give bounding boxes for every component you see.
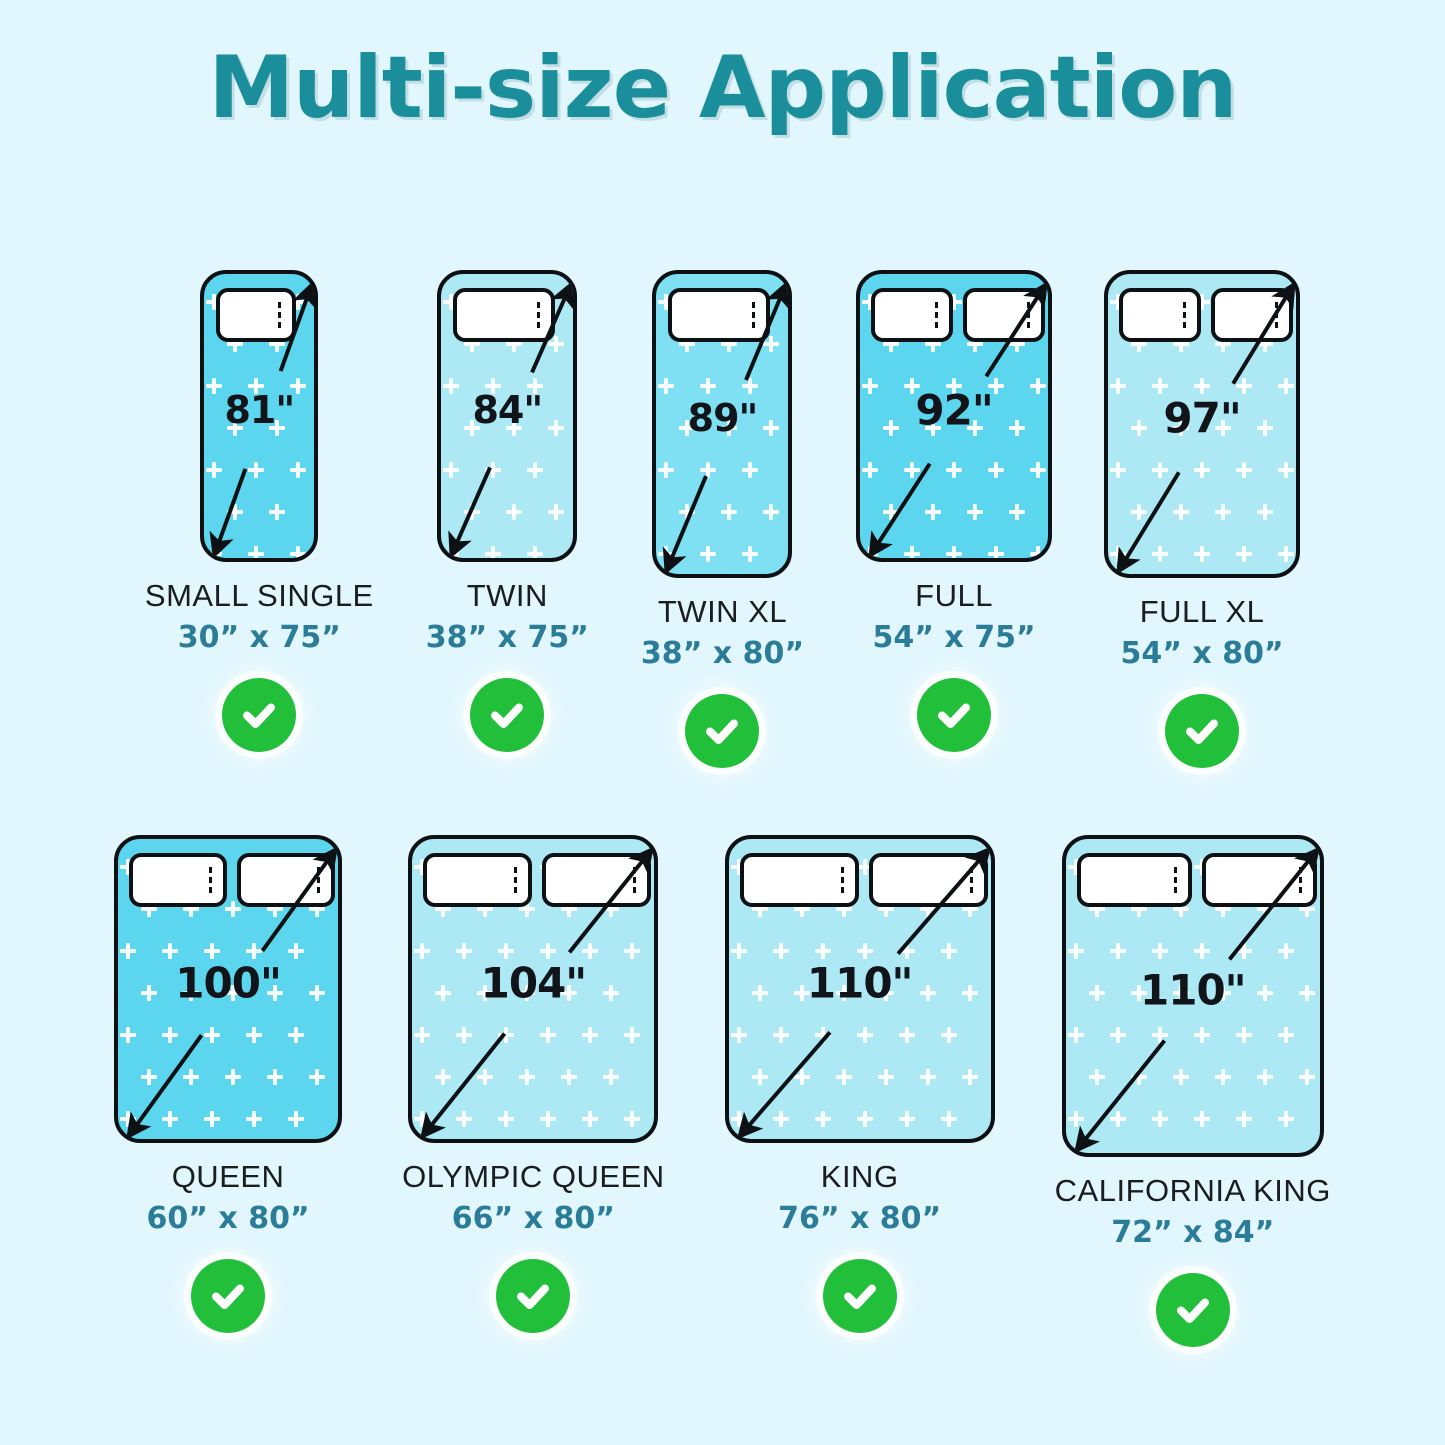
pattern-plus-icon bbox=[464, 336, 480, 352]
size-dimensions-label: 38” x 80” bbox=[641, 635, 804, 673]
pattern-plus-icon bbox=[1215, 1069, 1231, 1085]
mattress-pattern bbox=[860, 274, 1048, 558]
size-card-california-king[interactable]: 110"CALIFORNIA KING72” x 84” bbox=[1055, 835, 1331, 1347]
pattern-plus-icon bbox=[1110, 462, 1126, 478]
mattress: 110" bbox=[1062, 835, 1324, 1157]
pattern-plus-icon bbox=[862, 462, 878, 478]
pattern-plus-icon bbox=[1257, 420, 1273, 436]
pattern-plus-icon bbox=[269, 420, 285, 436]
pattern-plus-icon bbox=[857, 1027, 873, 1043]
pattern-plus-icon bbox=[519, 985, 535, 1001]
pattern-plus-icon bbox=[941, 1027, 957, 1043]
pattern-plus-icon bbox=[269, 504, 285, 520]
diagonal-measurement-label: 97" bbox=[1163, 394, 1240, 443]
diagonal-measurement-label: 84" bbox=[472, 388, 542, 432]
size-caption: QUEEN60” x 80” bbox=[146, 1159, 309, 1237]
pattern-plus-icon bbox=[414, 1111, 430, 1127]
pattern-plus-icon bbox=[267, 1069, 283, 1085]
pattern-plus-icon bbox=[1194, 546, 1210, 562]
pattern-plus-icon bbox=[988, 546, 1004, 562]
pattern-plus-icon bbox=[988, 462, 1004, 478]
size-card-queen[interactable]: 100"QUEEN60” x 80” bbox=[114, 835, 342, 1347]
bed-illustration-olympic-queen: 104" bbox=[408, 835, 658, 1143]
pattern-plus-icon bbox=[290, 294, 306, 310]
diagonal-measure-arrow bbox=[118, 839, 342, 1143]
pattern-plus-icon bbox=[227, 504, 243, 520]
pattern-plus-icon bbox=[1152, 378, 1168, 394]
pattern-plus-icon bbox=[464, 504, 480, 520]
pattern-plus-icon bbox=[162, 859, 178, 875]
size-name-label: QUEEN bbox=[146, 1159, 309, 1196]
check-circle-icon bbox=[470, 678, 544, 752]
check-circle-icon bbox=[191, 1259, 265, 1333]
pattern-plus-icon bbox=[288, 1027, 304, 1043]
pattern-plus-icon bbox=[815, 859, 831, 875]
pattern-plus-icon bbox=[1236, 1027, 1252, 1043]
pattern-plus-icon bbox=[1173, 336, 1189, 352]
pattern-plus-icon bbox=[1152, 859, 1168, 875]
pattern-plus-icon bbox=[1030, 546, 1046, 562]
pillow-crease bbox=[275, 302, 281, 328]
pattern-plus-icon bbox=[248, 378, 264, 394]
pattern-plus-icon bbox=[1194, 462, 1210, 478]
pattern-plus-icon bbox=[967, 336, 983, 352]
size-dimensions-label: 54” x 80” bbox=[1120, 635, 1283, 673]
pattern-plus-icon bbox=[946, 462, 962, 478]
pattern-plus-icon bbox=[1030, 378, 1046, 394]
diagonal-measurement-label: 104" bbox=[481, 959, 587, 1008]
pattern-plus-icon bbox=[773, 1027, 789, 1043]
mattress: 92" bbox=[856, 270, 1052, 562]
pattern-plus-icon bbox=[899, 1027, 915, 1043]
pattern-plus-icon bbox=[506, 504, 522, 520]
pattern-plus-icon bbox=[1278, 462, 1294, 478]
pattern-plus-icon bbox=[485, 294, 501, 310]
pattern-plus-icon bbox=[485, 378, 501, 394]
pattern-plus-icon bbox=[904, 378, 920, 394]
pattern-plus-icon bbox=[904, 546, 920, 562]
pattern-plus-icon bbox=[288, 943, 304, 959]
check-circle-icon bbox=[496, 1259, 570, 1333]
pattern-plus-icon bbox=[527, 294, 543, 310]
pillow bbox=[869, 853, 988, 907]
size-card-king[interactable]: 110"KING76” x 80” bbox=[725, 835, 995, 1347]
mattress-pattern bbox=[118, 839, 338, 1139]
pattern-plus-icon bbox=[1278, 1111, 1294, 1127]
pillow-crease bbox=[1171, 867, 1177, 893]
pattern-plus-icon bbox=[443, 462, 459, 478]
pattern-plus-icon bbox=[1173, 420, 1189, 436]
pattern-plus-icon bbox=[225, 901, 241, 917]
mattress: 81" bbox=[200, 270, 318, 562]
pattern-plus-icon bbox=[506, 420, 522, 436]
size-name-label: TWIN XL bbox=[641, 594, 804, 631]
pattern-plus-icon bbox=[1236, 462, 1252, 478]
pattern-plus-icon bbox=[141, 985, 157, 1001]
pattern-plus-icon bbox=[204, 1027, 220, 1043]
pattern-plus-icon bbox=[1152, 1027, 1168, 1043]
pattern-plus-icon bbox=[925, 336, 941, 352]
pattern-plus-icon bbox=[773, 859, 789, 875]
pattern-plus-icon bbox=[731, 859, 747, 875]
pattern-plus-icon bbox=[246, 1111, 262, 1127]
pattern-plus-icon bbox=[1089, 1069, 1105, 1085]
pattern-plus-icon bbox=[1257, 985, 1273, 1001]
size-caption: FULL54” x 75” bbox=[872, 578, 1035, 656]
pattern-plus-icon bbox=[183, 901, 199, 917]
pattern-plus-icon bbox=[962, 901, 978, 917]
pattern-plus-icon bbox=[1278, 1027, 1294, 1043]
pattern-plus-icon bbox=[498, 1027, 514, 1043]
bed-illustration-king: 110" bbox=[725, 835, 995, 1143]
pattern-plus-icon bbox=[414, 943, 430, 959]
pattern-plus-icon bbox=[700, 294, 716, 310]
pattern-plus-icon bbox=[1030, 462, 1046, 478]
pattern-plus-icon bbox=[899, 1111, 915, 1127]
pattern-plus-icon bbox=[624, 1027, 640, 1043]
pattern-plus-icon bbox=[225, 1069, 241, 1085]
pattern-plus-icon bbox=[1194, 378, 1210, 394]
pattern-plus-icon bbox=[752, 1069, 768, 1085]
pattern-plus-icon bbox=[742, 294, 758, 310]
pillow-crease bbox=[206, 867, 212, 893]
bed-illustration-small-single: 81" bbox=[200, 270, 318, 562]
pattern-plus-icon bbox=[435, 901, 451, 917]
pattern-plus-icon bbox=[962, 1069, 978, 1085]
pattern-plus-icon bbox=[731, 1111, 747, 1127]
pattern-plus-icon bbox=[878, 985, 894, 1001]
pillow bbox=[1202, 853, 1317, 907]
pattern-plus-icon bbox=[1152, 294, 1168, 310]
pattern-plus-icon bbox=[120, 943, 136, 959]
pattern-plus-icon bbox=[1257, 504, 1273, 520]
pattern-plus-icon bbox=[206, 546, 222, 562]
pattern-plus-icon bbox=[506, 336, 522, 352]
pattern-plus-icon bbox=[162, 1111, 178, 1127]
pattern-plus-icon bbox=[485, 462, 501, 478]
size-dimensions-label: 76” x 80” bbox=[778, 1200, 941, 1238]
pattern-plus-icon bbox=[288, 859, 304, 875]
pattern-plus-icon bbox=[962, 985, 978, 1001]
size-dimensions-label: 66” x 80” bbox=[402, 1200, 665, 1238]
pattern-plus-icon bbox=[1173, 985, 1189, 1001]
pillow-crease bbox=[1272, 302, 1278, 328]
pattern-plus-icon bbox=[1215, 901, 1231, 917]
pattern-plus-icon bbox=[679, 504, 695, 520]
bed-illustration-full: 92" bbox=[856, 270, 1052, 562]
pattern-plus-icon bbox=[204, 859, 220, 875]
pillow bbox=[871, 288, 953, 342]
pattern-plus-icon bbox=[1236, 1111, 1252, 1127]
pattern-plus-icon bbox=[1299, 985, 1315, 1001]
mattress: 104" bbox=[408, 835, 658, 1143]
pattern-plus-icon bbox=[443, 546, 459, 562]
pattern-plus-icon bbox=[477, 1069, 493, 1085]
pattern-plus-icon bbox=[967, 504, 983, 520]
pattern-plus-icon bbox=[290, 546, 306, 562]
pattern-plus-icon bbox=[721, 336, 737, 352]
pattern-plus-icon bbox=[857, 859, 873, 875]
size-caption: FULL XL54” x 80” bbox=[1120, 594, 1283, 672]
pattern-plus-icon bbox=[920, 985, 936, 1001]
pattern-plus-icon bbox=[862, 546, 878, 562]
diagonal-measure-arrow bbox=[412, 839, 658, 1143]
pattern-plus-icon bbox=[248, 546, 264, 562]
pattern-plus-icon bbox=[773, 1111, 789, 1127]
pattern-plus-icon bbox=[120, 859, 136, 875]
pattern-plus-icon bbox=[582, 859, 598, 875]
pattern-plus-icon bbox=[920, 901, 936, 917]
pattern-plus-icon bbox=[1152, 462, 1168, 478]
pattern-plus-icon bbox=[836, 985, 852, 1001]
pattern-plus-icon bbox=[836, 901, 852, 917]
pillow-crease bbox=[1296, 867, 1302, 893]
pattern-plus-icon bbox=[435, 1069, 451, 1085]
pattern-plus-icon bbox=[1110, 859, 1126, 875]
pattern-plus-icon bbox=[925, 420, 941, 436]
pattern-plus-icon bbox=[857, 1111, 873, 1127]
pattern-plus-icon bbox=[309, 1069, 325, 1085]
pattern-plus-icon bbox=[246, 943, 262, 959]
pattern-plus-icon bbox=[540, 1111, 556, 1127]
pattern-plus-icon bbox=[883, 336, 899, 352]
pattern-plus-icon bbox=[527, 462, 543, 478]
pattern-plus-icon bbox=[988, 294, 1004, 310]
pattern-plus-icon bbox=[1257, 336, 1273, 352]
bed-illustration-california-king: 110" bbox=[1062, 835, 1324, 1157]
pattern-plus-icon bbox=[288, 1111, 304, 1127]
pattern-plus-icon bbox=[1173, 504, 1189, 520]
pattern-plus-icon bbox=[878, 901, 894, 917]
mattress: 100" bbox=[114, 835, 342, 1143]
size-caption: OLYMPIC QUEEN66” x 80” bbox=[402, 1159, 665, 1237]
pattern-plus-icon bbox=[414, 1027, 430, 1043]
pattern-plus-icon bbox=[1236, 546, 1252, 562]
pattern-plus-icon bbox=[267, 985, 283, 1001]
diagonal-measurement-label: 110" bbox=[1140, 965, 1246, 1014]
pillow bbox=[129, 853, 227, 907]
mattress: 97" bbox=[1104, 270, 1300, 578]
size-name-label: FULL XL bbox=[1120, 594, 1283, 631]
pattern-plus-icon bbox=[561, 1069, 577, 1085]
pattern-plus-icon bbox=[603, 1069, 619, 1085]
pattern-plus-icon bbox=[988, 378, 1004, 394]
mattress-pattern bbox=[441, 274, 573, 558]
pattern-plus-icon bbox=[794, 901, 810, 917]
pattern-plus-icon bbox=[414, 859, 430, 875]
pattern-plus-icon bbox=[1257, 1069, 1273, 1085]
size-card-twin-xl[interactable]: 89"TWIN XL38” x 80” bbox=[641, 270, 804, 768]
pattern-plus-icon bbox=[904, 462, 920, 478]
pattern-plus-icon bbox=[204, 1111, 220, 1127]
pattern-plus-icon bbox=[548, 504, 564, 520]
pillow-crease bbox=[838, 867, 844, 893]
pattern-plus-icon bbox=[206, 378, 222, 394]
pattern-plus-icon bbox=[456, 1027, 472, 1043]
bed-illustration-full-xl: 97" bbox=[1104, 270, 1300, 578]
pattern-plus-icon bbox=[519, 901, 535, 917]
pattern-plus-icon bbox=[1110, 943, 1126, 959]
pattern-plus-icon bbox=[1215, 420, 1231, 436]
size-row-2: 100"QUEEN60” x 80”104"OLYMPIC QUEEN66” x… bbox=[0, 835, 1445, 1347]
pattern-plus-icon bbox=[582, 1111, 598, 1127]
pattern-plus-icon bbox=[815, 943, 831, 959]
pillow-crease bbox=[1024, 302, 1030, 328]
pattern-plus-icon bbox=[485, 546, 501, 562]
pattern-plus-icon bbox=[752, 901, 768, 917]
mattress-pattern bbox=[729, 839, 991, 1139]
size-card-olympic-queen[interactable]: 104"OLYMPIC QUEEN66” x 80” bbox=[402, 835, 665, 1347]
pattern-plus-icon bbox=[920, 1069, 936, 1085]
pattern-plus-icon bbox=[1089, 985, 1105, 1001]
check-circle-icon bbox=[685, 694, 759, 768]
size-card-small-single[interactable]: 81"SMALL SINGLE30” x 75” bbox=[145, 270, 374, 768]
diagonal-measure-arrow bbox=[1066, 839, 1324, 1157]
diagonal-measurement-label: 89" bbox=[688, 396, 758, 440]
pattern-plus-icon bbox=[700, 546, 716, 562]
pattern-plus-icon bbox=[1194, 1111, 1210, 1127]
pattern-plus-icon bbox=[1068, 1111, 1084, 1127]
mattress-pattern bbox=[656, 274, 788, 574]
pattern-plus-icon bbox=[582, 943, 598, 959]
size-card-full[interactable]: 92"FULL54” x 75” bbox=[856, 270, 1052, 768]
size-caption: CALIFORNIA KING72” x 84” bbox=[1055, 1173, 1331, 1251]
pattern-plus-icon bbox=[904, 294, 920, 310]
pattern-plus-icon bbox=[1110, 1111, 1126, 1127]
diagonal-measure-arrow bbox=[656, 274, 792, 578]
pattern-plus-icon bbox=[624, 943, 640, 959]
pattern-plus-icon bbox=[206, 462, 222, 478]
pattern-plus-icon bbox=[456, 1111, 472, 1127]
size-dimensions-label: 72” x 84” bbox=[1055, 1214, 1331, 1252]
pattern-plus-icon bbox=[498, 1111, 514, 1127]
pattern-plus-icon bbox=[1215, 504, 1231, 520]
pattern-plus-icon bbox=[464, 420, 480, 436]
pattern-plus-icon bbox=[141, 1069, 157, 1085]
size-name-label: KING bbox=[778, 1159, 941, 1196]
pattern-plus-icon bbox=[794, 985, 810, 1001]
pattern-plus-icon bbox=[899, 859, 915, 875]
pattern-plus-icon bbox=[1131, 504, 1147, 520]
pillow-crease bbox=[630, 867, 636, 893]
size-dimensions-label: 30” x 75” bbox=[145, 619, 374, 657]
pattern-plus-icon bbox=[1299, 1069, 1315, 1085]
pattern-plus-icon bbox=[1110, 378, 1126, 394]
pattern-plus-icon bbox=[540, 859, 556, 875]
pillow bbox=[668, 288, 770, 342]
pillow bbox=[740, 853, 859, 907]
pillow bbox=[542, 853, 651, 907]
pattern-plus-icon bbox=[1131, 985, 1147, 1001]
pattern-plus-icon bbox=[1173, 901, 1189, 917]
size-dimensions-label: 54” x 75” bbox=[872, 619, 1035, 657]
mattress-pattern bbox=[1108, 274, 1296, 574]
pattern-plus-icon bbox=[582, 1027, 598, 1043]
pattern-plus-icon bbox=[731, 1027, 747, 1043]
mattress-pattern bbox=[412, 839, 654, 1139]
pattern-plus-icon bbox=[883, 420, 899, 436]
pattern-plus-icon bbox=[1215, 985, 1231, 1001]
pattern-plus-icon bbox=[857, 943, 873, 959]
pattern-plus-icon bbox=[941, 943, 957, 959]
pattern-plus-icon bbox=[742, 378, 758, 394]
size-card-full-xl[interactable]: 97"FULL XL54” x 80” bbox=[1104, 270, 1300, 768]
pillow bbox=[1119, 288, 1201, 342]
pillow-crease bbox=[1180, 302, 1186, 328]
size-caption: KING76” x 80” bbox=[778, 1159, 941, 1237]
pattern-plus-icon bbox=[246, 859, 262, 875]
pattern-plus-icon bbox=[561, 901, 577, 917]
size-card-twin[interactable]: 84"TWIN38” x 75” bbox=[426, 270, 589, 768]
check-circle-icon bbox=[222, 678, 296, 752]
pattern-plus-icon bbox=[794, 1069, 810, 1085]
pattern-plus-icon bbox=[679, 420, 695, 436]
pattern-plus-icon bbox=[658, 294, 674, 310]
pillow bbox=[963, 288, 1045, 342]
pattern-plus-icon bbox=[1194, 294, 1210, 310]
pattern-plus-icon bbox=[1152, 1111, 1168, 1127]
diagonal-measurement-label: 81" bbox=[224, 388, 294, 432]
diagonal-measure-arrow bbox=[204, 274, 318, 562]
pattern-plus-icon bbox=[946, 378, 962, 394]
size-caption: SMALL SINGLE30” x 75” bbox=[145, 578, 374, 656]
pattern-plus-icon bbox=[658, 462, 674, 478]
pattern-plus-icon bbox=[763, 336, 779, 352]
pattern-plus-icon bbox=[862, 294, 878, 310]
pattern-plus-icon bbox=[477, 985, 493, 1001]
pattern-plus-icon bbox=[925, 504, 941, 520]
pattern-plus-icon bbox=[1215, 336, 1231, 352]
pattern-plus-icon bbox=[162, 943, 178, 959]
pillow bbox=[1077, 853, 1192, 907]
mattress-pattern bbox=[1066, 839, 1320, 1153]
pattern-plus-icon bbox=[752, 985, 768, 1001]
pattern-plus-icon bbox=[883, 504, 899, 520]
pillow-crease bbox=[314, 867, 320, 893]
pattern-plus-icon bbox=[1009, 336, 1025, 352]
pattern-plus-icon bbox=[1236, 294, 1252, 310]
pattern-plus-icon bbox=[946, 294, 962, 310]
pattern-plus-icon bbox=[1278, 943, 1294, 959]
size-caption: TWIN38” x 75” bbox=[426, 578, 589, 656]
pattern-plus-icon bbox=[309, 901, 325, 917]
pattern-plus-icon bbox=[1236, 859, 1252, 875]
size-row-1: 81"SMALL SINGLE30” x 75”84"TWIN38” x 75”… bbox=[0, 270, 1445, 768]
pattern-plus-icon bbox=[1131, 1069, 1147, 1085]
pattern-plus-icon bbox=[1236, 378, 1252, 394]
pattern-plus-icon bbox=[941, 859, 957, 875]
pattern-plus-icon bbox=[603, 985, 619, 1001]
pattern-plus-icon bbox=[1152, 943, 1168, 959]
pattern-plus-icon bbox=[1131, 420, 1147, 436]
pattern-plus-icon bbox=[561, 985, 577, 1001]
pattern-plus-icon bbox=[1131, 336, 1147, 352]
pattern-plus-icon bbox=[225, 985, 241, 1001]
size-caption: TWIN XL38” x 80” bbox=[641, 594, 804, 672]
size-dimensions-label: 38” x 75” bbox=[426, 619, 589, 657]
bed-illustration-queen: 100" bbox=[114, 835, 342, 1143]
diagonal-measure-arrow bbox=[729, 839, 995, 1143]
pattern-plus-icon bbox=[1068, 943, 1084, 959]
mattress: 84" bbox=[437, 270, 577, 562]
pattern-plus-icon bbox=[162, 1027, 178, 1043]
pattern-plus-icon bbox=[1194, 859, 1210, 875]
pattern-plus-icon bbox=[603, 901, 619, 917]
pattern-plus-icon bbox=[498, 859, 514, 875]
pattern-plus-icon bbox=[815, 1111, 831, 1127]
pattern-plus-icon bbox=[1110, 294, 1126, 310]
bed-illustration-twin: 84" bbox=[437, 270, 577, 562]
